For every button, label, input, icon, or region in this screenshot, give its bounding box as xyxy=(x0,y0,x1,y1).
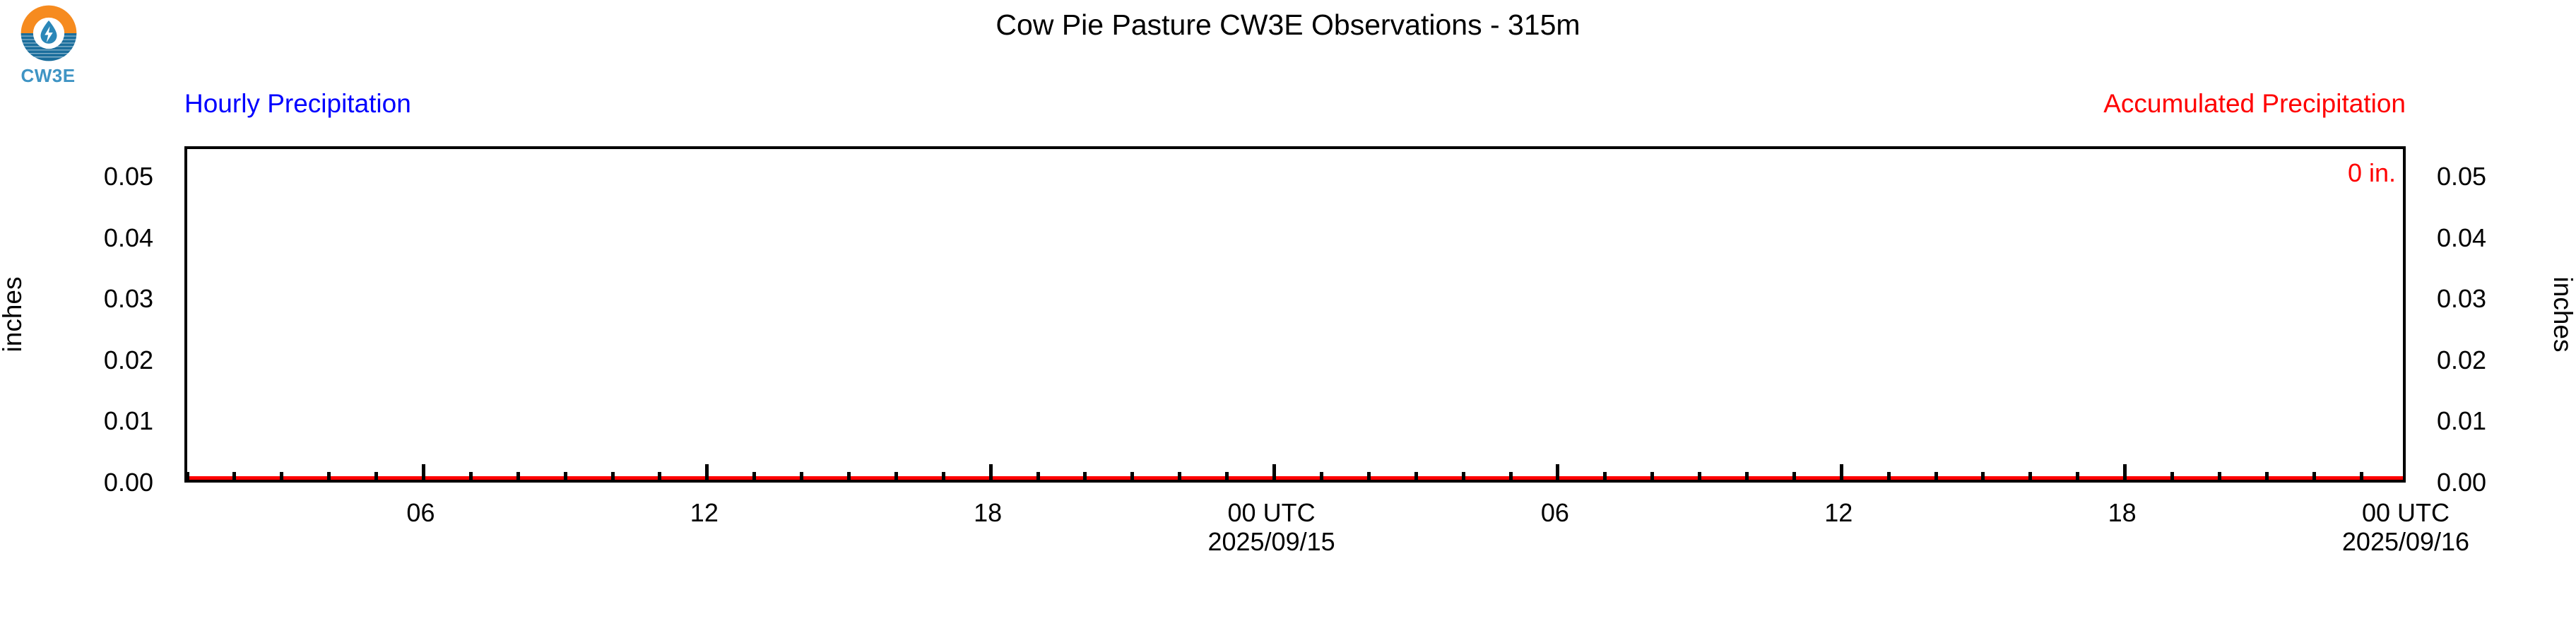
x-axis-minor-tick xyxy=(1887,472,1891,480)
x-axis-tick-time: 06 xyxy=(1414,498,1696,527)
x-axis-minor-tick xyxy=(1981,472,1985,480)
x-axis-tick-time: 12 xyxy=(1697,498,1980,527)
legend-accumulated-precipitation: Accumulated Precipitation xyxy=(2103,89,2406,119)
left-y-tick-label: 0.01 xyxy=(104,408,153,434)
x-axis-minor-tick xyxy=(2312,472,2316,480)
x-axis-minor-tick xyxy=(894,472,898,480)
x-axis-minor-tick xyxy=(800,472,803,480)
legend-hourly-precipitation: Hourly Precipitation xyxy=(184,89,411,119)
x-axis-tick-label: 00 UTC2025/09/16 xyxy=(2264,498,2547,556)
plot-inner: 0 in. xyxy=(187,149,2403,480)
x-axis-minor-tick xyxy=(1934,472,1938,480)
x-axis-minor-tick xyxy=(1367,472,1371,480)
x-axis-minor-tick xyxy=(2360,472,2363,480)
plot-area: 0 in. xyxy=(184,146,2406,483)
x-axis-minor-tick xyxy=(1650,472,1654,480)
x-axis-minor-tick xyxy=(280,472,283,480)
x-axis-minor-tick xyxy=(1603,472,1607,480)
left-y-tick-label: 0.03 xyxy=(104,286,153,312)
x-axis-tick-time: 18 xyxy=(846,498,1129,527)
x-axis-tick-label: 00 UTC2025/09/15 xyxy=(1130,498,1413,556)
x-axis-tick-label: 12 xyxy=(563,498,846,527)
x-axis-tick-label: 18 xyxy=(846,498,1129,527)
x-axis-minor-tick xyxy=(2170,472,2174,480)
x-axis-major-tick xyxy=(705,464,709,480)
x-axis-minor-tick xyxy=(611,472,615,480)
x-axis-tick-date: 2025/09/16 xyxy=(2264,527,2547,556)
x-axis-minor-tick xyxy=(1414,472,1418,480)
x-axis-major-tick xyxy=(422,464,425,480)
x-axis-minor-tick xyxy=(1225,472,1229,480)
x-axis-major-tick xyxy=(989,464,993,480)
cw3e-logo-text: CW3E xyxy=(10,65,86,87)
x-axis-major-tick xyxy=(1556,464,1559,480)
right-y-tick-label: 0.04 xyxy=(2437,225,2486,251)
x-axis-minor-tick xyxy=(374,472,378,480)
x-axis-tick-time: 06 xyxy=(279,498,562,527)
x-axis-major-tick xyxy=(1272,464,1276,480)
x-axis-minor-tick xyxy=(1036,472,1040,480)
x-axis-minor-tick xyxy=(516,472,520,480)
left-y-tick-label: 0.02 xyxy=(104,348,153,373)
x-axis-major-tick xyxy=(2123,464,2127,480)
x-axis-minor-tick xyxy=(1745,472,1749,480)
x-axis-minor-tick xyxy=(1792,472,1796,480)
x-axis-minor-tick xyxy=(1320,472,1323,480)
x-axis-tick-label: 18 xyxy=(1981,498,2264,527)
x-axis-minor-tick xyxy=(1509,472,1513,480)
right-y-tick-label: 0.05 xyxy=(2437,164,2486,189)
x-axis-minor-tick xyxy=(2076,472,2079,480)
x-axis-minor-tick xyxy=(469,472,473,480)
x-axis-minor-tick xyxy=(2265,472,2269,480)
x-axis-minor-tick xyxy=(658,472,661,480)
left-y-axis-title: inches xyxy=(0,277,28,353)
right-y-axis-title: inches xyxy=(2548,277,2576,353)
x-axis-tick-date: 2025/09/15 xyxy=(1130,527,1413,556)
left-y-tick-label: 0.05 xyxy=(104,164,153,189)
x-axis-minor-tick xyxy=(327,472,331,480)
x-axis-minor-tick xyxy=(232,472,236,480)
x-axis-minor-tick xyxy=(187,472,189,480)
left-y-tick-label: 0.00 xyxy=(104,470,153,495)
x-axis-minor-tick xyxy=(752,472,756,480)
accumulated-total-annotation: 0 in. xyxy=(2348,158,2396,188)
x-axis-major-tick xyxy=(1840,464,1843,480)
x-axis-tick-time: 00 UTC xyxy=(1130,498,1413,527)
x-axis-minor-tick xyxy=(2028,472,2032,480)
x-axis-minor-tick xyxy=(1178,472,1181,480)
x-axis-minor-tick xyxy=(942,472,945,480)
right-y-tick-label: 0.03 xyxy=(2437,286,2486,312)
x-axis-tick-time: 12 xyxy=(563,498,846,527)
x-axis-tick-time: 00 UTC xyxy=(2264,498,2547,527)
right-y-tick-label: 0.00 xyxy=(2437,470,2486,495)
x-axis-tick-time: 18 xyxy=(1981,498,2264,527)
x-axis-minor-tick xyxy=(1462,472,1465,480)
x-axis-minor-tick xyxy=(2218,472,2221,480)
page-title: Cow Pie Pasture CW3E Observations - 315m xyxy=(0,0,2576,49)
x-axis-tick-label: 06 xyxy=(1414,498,1696,527)
left-y-tick-label: 0.04 xyxy=(104,225,153,251)
x-axis-tick-label: 06 xyxy=(279,498,562,527)
x-axis-minor-tick xyxy=(847,472,851,480)
x-axis-minor-tick xyxy=(1698,472,1701,480)
x-axis-tick-label: 12 xyxy=(1697,498,1980,527)
right-y-tick-label: 0.01 xyxy=(2437,408,2486,434)
right-y-tick-label: 0.02 xyxy=(2437,348,2486,373)
x-axis-minor-tick xyxy=(564,472,567,480)
x-axis-minor-tick xyxy=(1083,472,1087,480)
x-axis-minor-tick xyxy=(1130,472,1134,480)
